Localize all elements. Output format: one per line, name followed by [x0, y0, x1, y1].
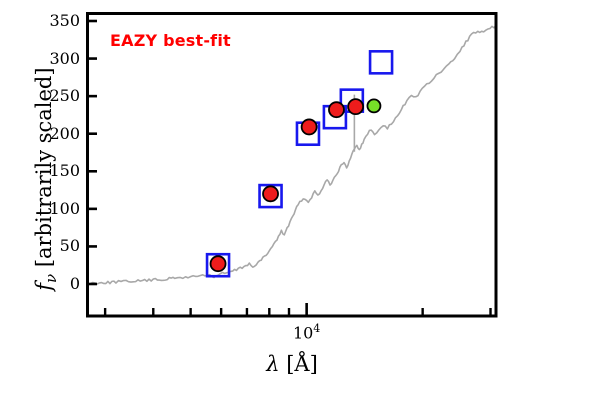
x-axis-label: λ [Å]	[87, 352, 497, 376]
observed-flux-point	[348, 99, 363, 114]
observed-flux-point	[302, 119, 317, 134]
x-axis-label-lambda: λ	[266, 352, 279, 376]
y-axis-label-f: f	[32, 283, 56, 291]
y-tick-label: 350	[28, 11, 80, 30]
figure-canvas: 050100150200250300350 104 fν [arbitraril…	[0, 0, 600, 400]
additional-flux-point	[367, 99, 380, 112]
y-axis-label-rest: [arbitrarily scaled]	[32, 67, 56, 273]
observed-flux-point	[263, 186, 278, 201]
y-axis-label: fν [arbitrarily scaled]	[32, 29, 60, 329]
observed-flux-point	[329, 102, 344, 117]
best-fit-annotation: EAZY best-fit	[110, 31, 231, 50]
observed-flux-point	[211, 256, 226, 271]
y-axis-label-nu: ν	[42, 274, 60, 283]
x-tick-mantissa: 10	[293, 323, 313, 342]
x-tick-exponent: 4	[313, 322, 320, 335]
x-axis-label-unit: [Å]	[280, 352, 318, 376]
x-tick-label-major: 104	[277, 322, 337, 342]
